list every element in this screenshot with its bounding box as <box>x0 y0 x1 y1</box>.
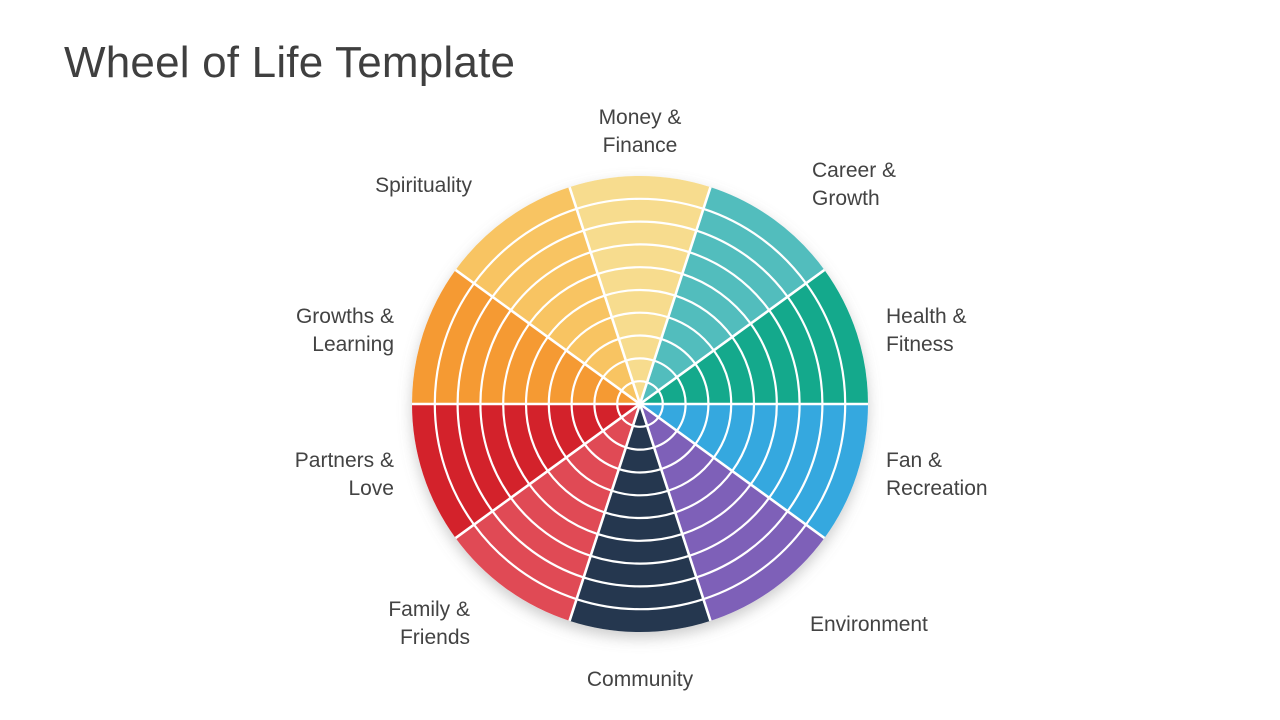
wheel-label-health-fitness: Health & Fitness <box>886 303 1076 359</box>
wheel-label-family-friends: Family & Friends <box>290 596 470 652</box>
wheel-ring-line <box>633 426 647 427</box>
wheel-label-spirituality: Spirituality <box>300 172 472 200</box>
wheel-of-life-chart: Money & Finance Career & Growth Health &… <box>0 0 1280 720</box>
wheel-label-growths-learning: Growths & Learning <box>206 303 394 359</box>
wheel-label-environment: Environment <box>810 611 1030 639</box>
slide-canvas: Wheel of Life Template Money & Finance C… <box>0 0 1280 720</box>
wheel-label-fan-recreation: Fan & Recreation <box>886 447 1086 503</box>
wheel-label-partners-love: Partners & Love <box>210 447 394 503</box>
wheel-ring-line <box>633 381 647 382</box>
wheel-label-community: Community <box>540 666 740 694</box>
wheel-label-money-finance: Money & Finance <box>560 104 720 160</box>
wheel-label-career-growth: Career & Growth <box>812 157 1002 213</box>
